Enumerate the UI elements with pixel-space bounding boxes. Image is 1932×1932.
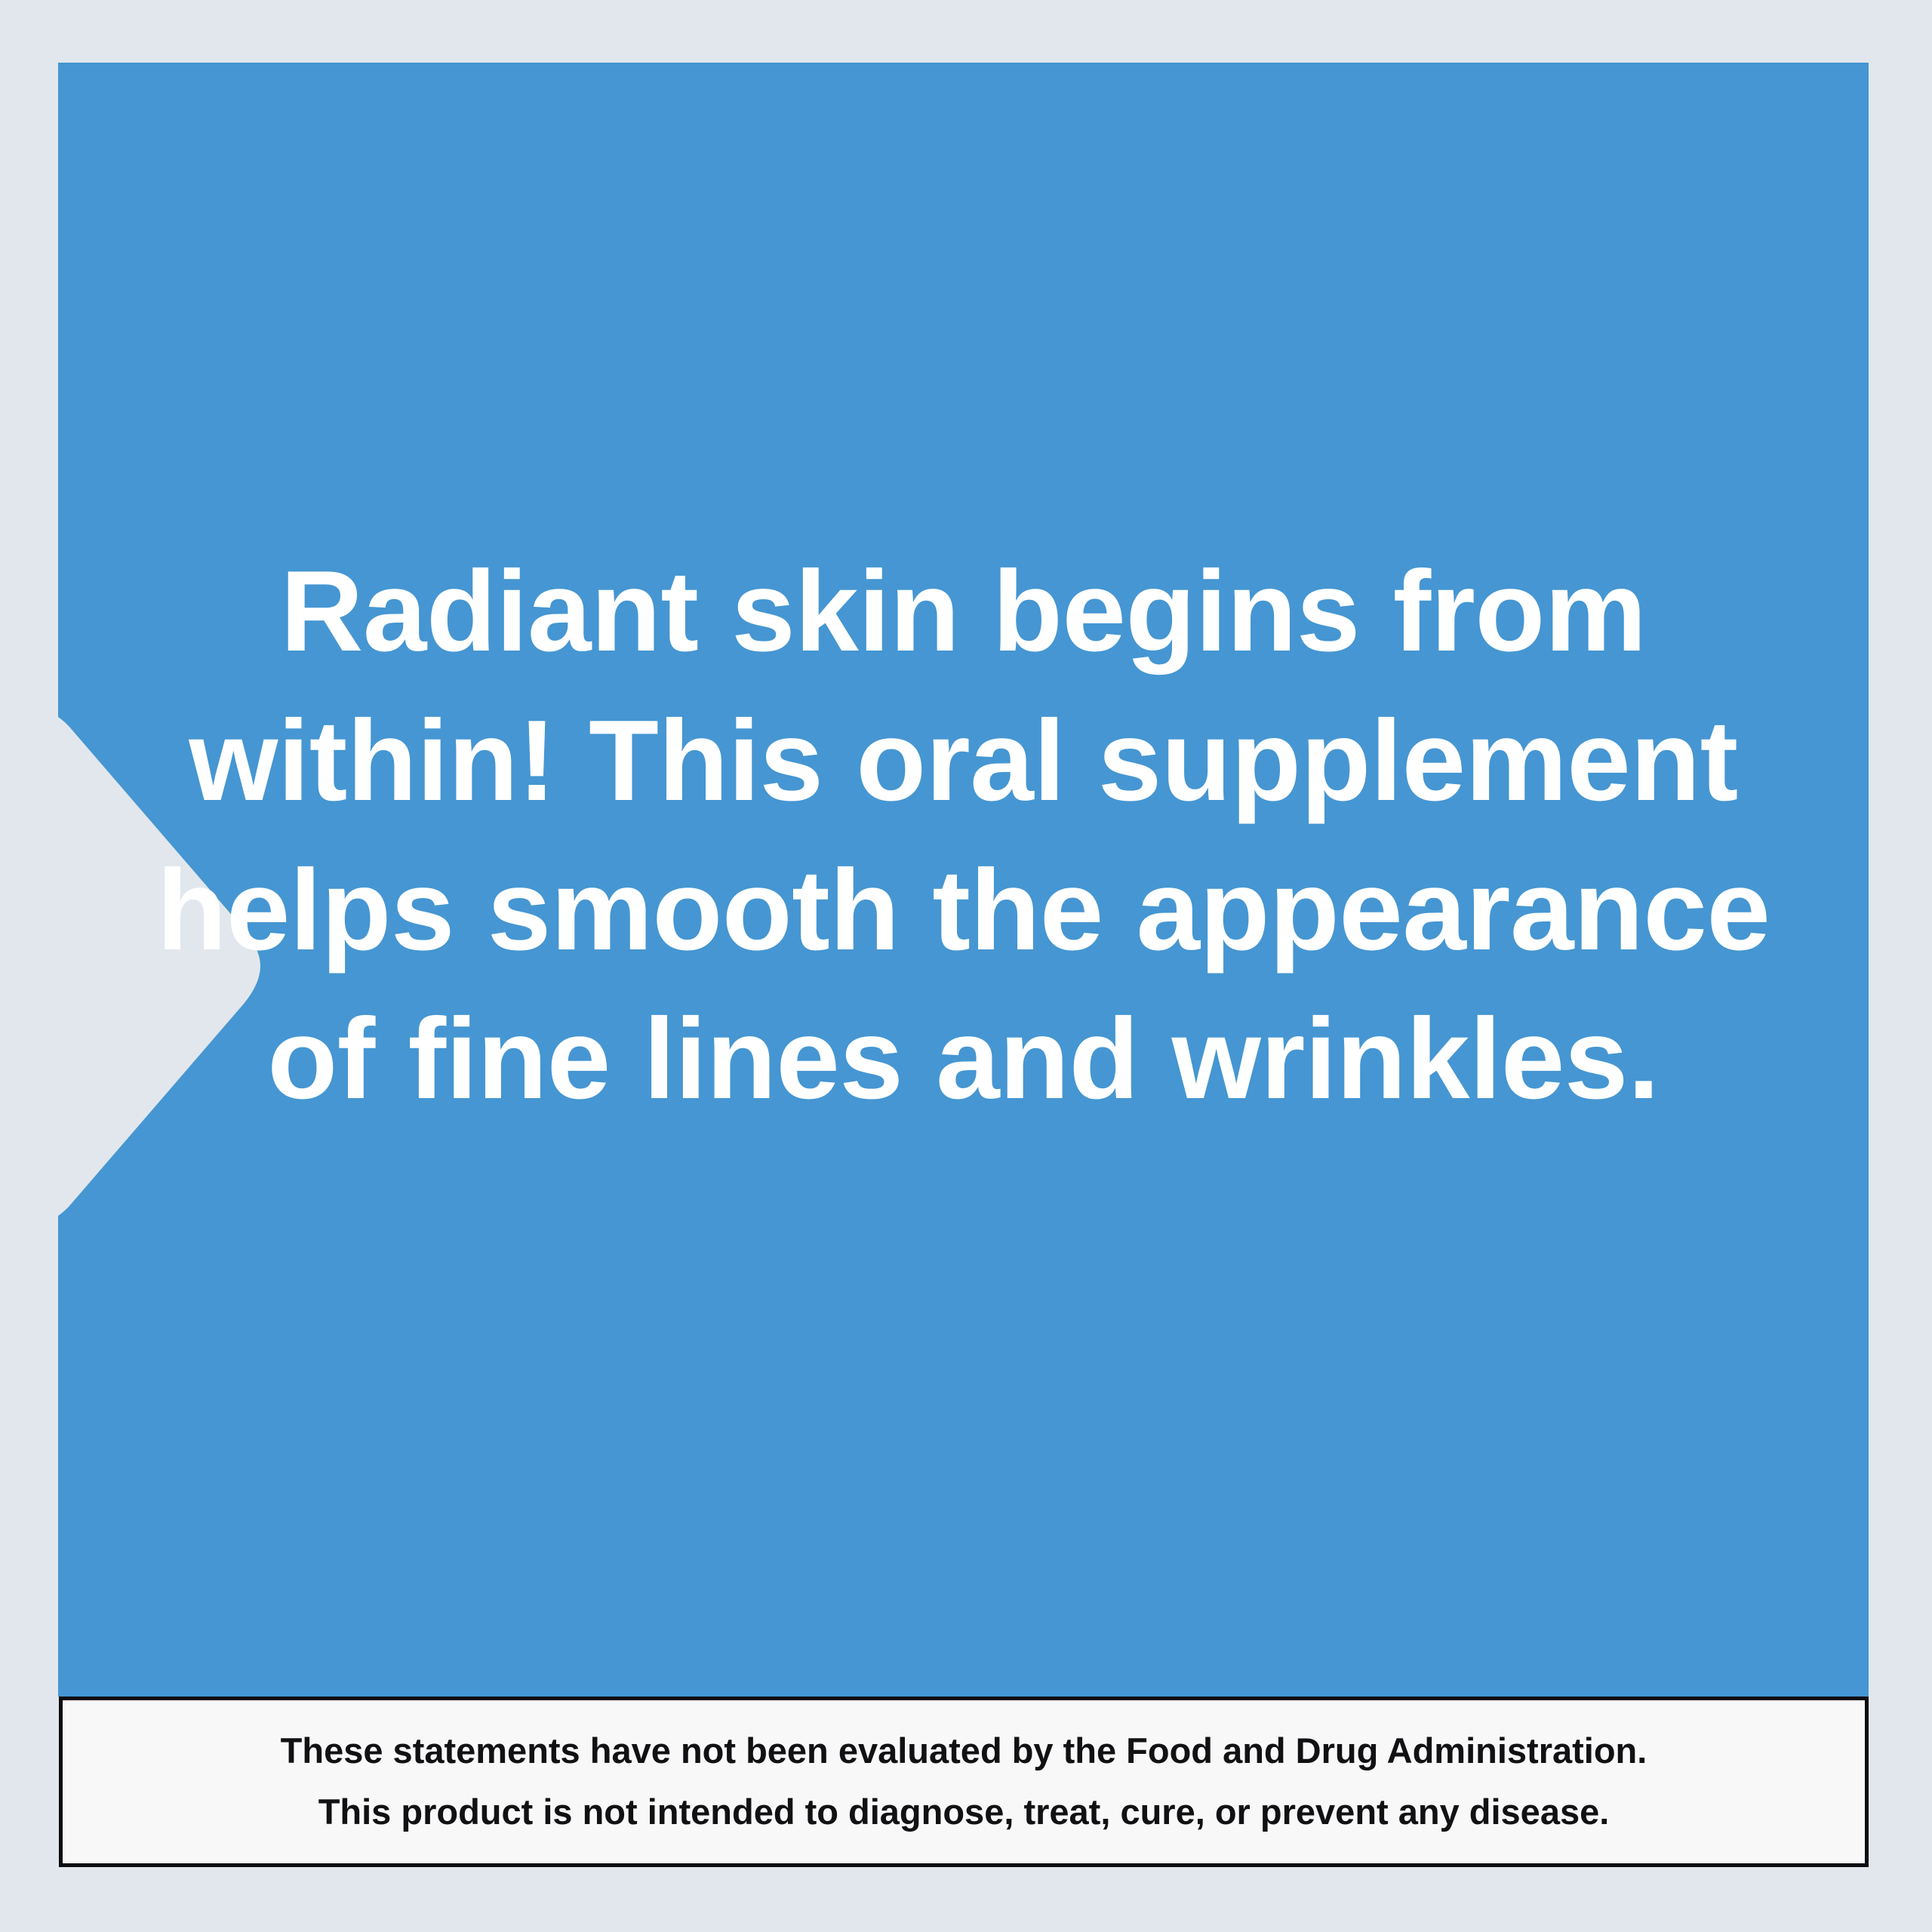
promo-card-canvas: Radiant skin begins from within! This or… bbox=[0, 0, 1932, 1932]
headline-text: Radiant skin begins from within! This or… bbox=[156, 537, 1770, 1134]
disclaimer-line-2: This product is not intended to diagnose… bbox=[318, 1782, 1610, 1843]
disclaimer-box: These statements have not been evaluated… bbox=[59, 1697, 1869, 1867]
headline-block: Radiant skin begins from within! This or… bbox=[58, 63, 1869, 1697]
hero-panel: Radiant skin begins from within! This or… bbox=[58, 63, 1869, 1697]
disclaimer-line-1: These statements have not been evaluated… bbox=[281, 1721, 1647, 1782]
